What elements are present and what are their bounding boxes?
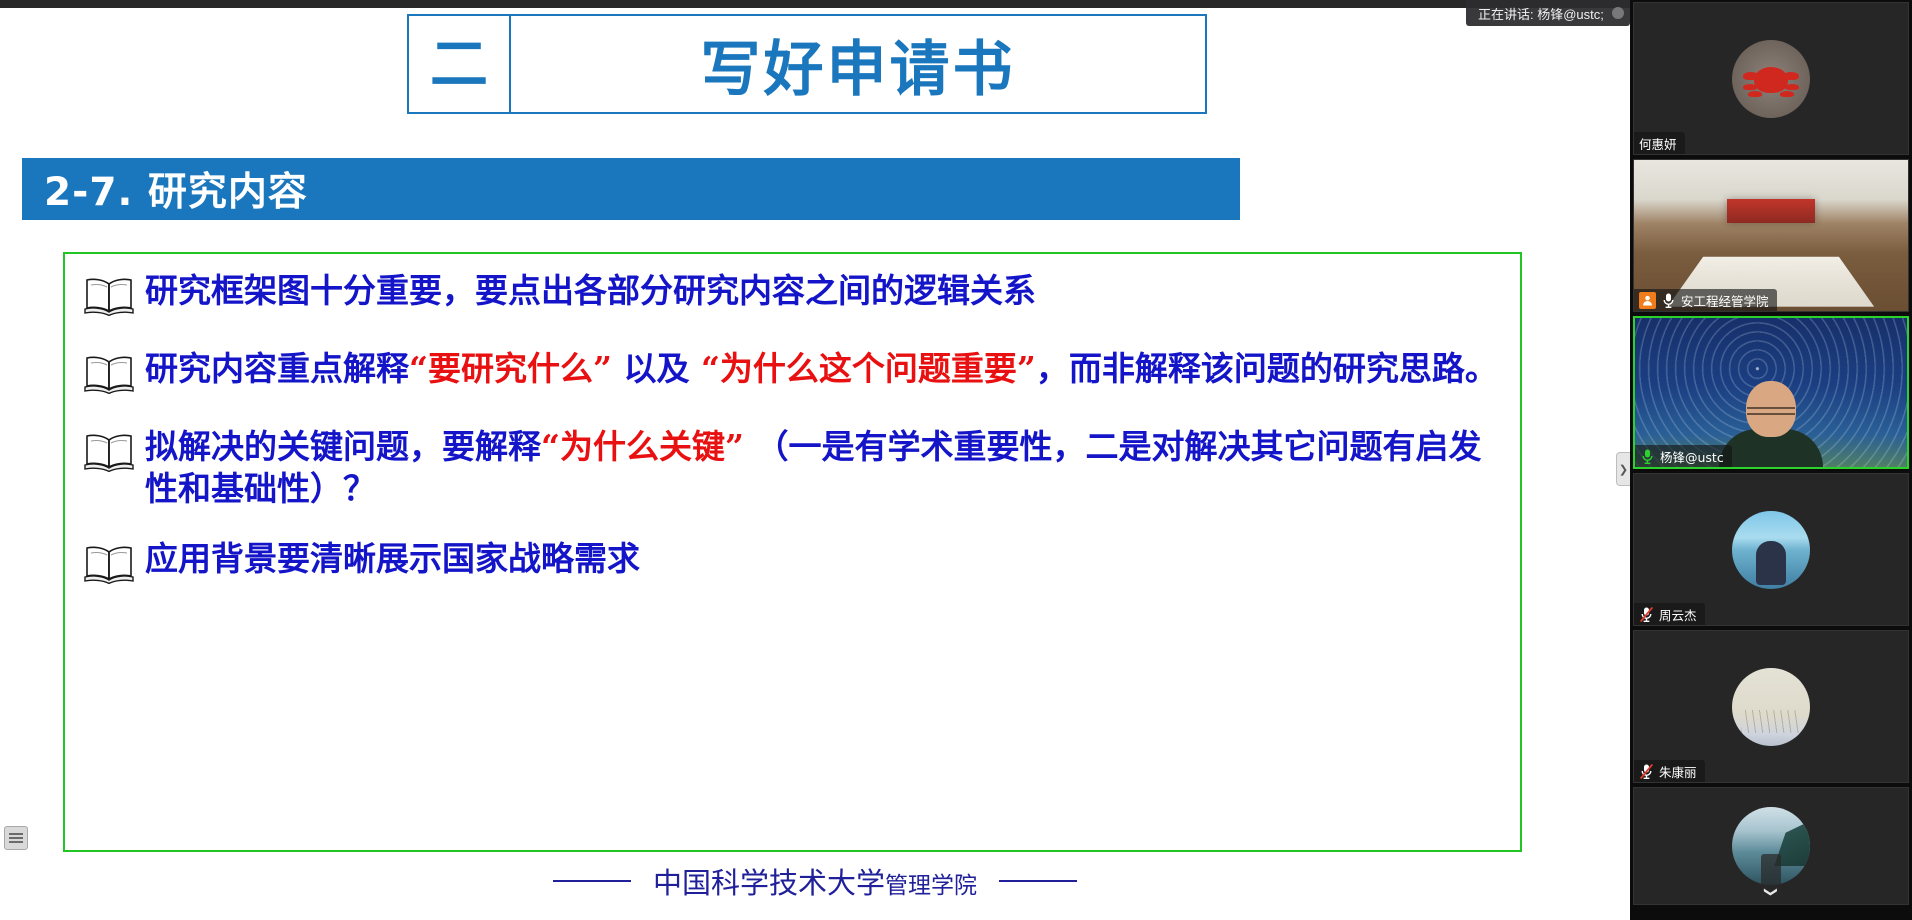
body-text: 研究框架图十分重要，要点出各部分研究内容之间的逻辑关系 xyxy=(145,271,1036,310)
zoom-meeting-window: 二 写好申请书 2-7. 研究内容 研究框架图十分重要，要点出各部分研究内容之间… xyxy=(0,0,1912,920)
slide-bullet-text: 研究内容重点解释“要研究什么” 以及 “为什么这个问题重要”，而非解释该问题的研… xyxy=(145,348,1498,390)
slide-bullet-text: 拟解决的关键问题，要解释“为什么关键” （一是有学术重要性，二是对解决其它问题有… xyxy=(145,426,1502,510)
participant-tile[interactable]: 周云杰 xyxy=(1633,473,1909,626)
slide-bullet: 研究框架图十分重要，要点出各部分研究内容之间的逻辑关系 xyxy=(83,270,1502,320)
slide-content-box: 研究框架图十分重要，要点出各部分研究内容之间的逻辑关系研究内容重点解释“要研究什… xyxy=(63,252,1522,852)
open-book-icon xyxy=(83,354,135,398)
slide-bullet-text: 研究框架图十分重要，要点出各部分研究内容之间的逻辑关系 xyxy=(145,270,1036,312)
shared-screen-stage: 二 写好申请书 2-7. 研究内容 研究框架图十分重要，要点出各部分研究内容之间… xyxy=(0,0,1630,920)
chevron-down-icon[interactable]: ❯ xyxy=(1761,854,1781,905)
body-text: 拟解决的关键问题，要解释 xyxy=(145,427,541,466)
body-text: 研究内容重点解释 xyxy=(145,349,409,388)
participant-name: 朱康丽 xyxy=(1659,762,1697,781)
thumbnail-list-icon[interactable] xyxy=(4,826,28,850)
footer-school: 管理学院 xyxy=(885,873,977,899)
chevron-right-icon[interactable]: ❯ xyxy=(1616,452,1630,486)
participant-name: 安工程经管学院 xyxy=(1681,291,1769,310)
emphasis-text: “为什么关键” xyxy=(541,427,744,466)
slide-title-block: 二 写好申请书 xyxy=(407,14,1207,114)
active-speaker-banner: 正在讲话: 杨锋@ustc; xyxy=(1466,0,1630,26)
body-text: ，而非解释该问题的研究思路。 xyxy=(1036,349,1498,388)
open-book-icon xyxy=(83,432,135,476)
participant-tile[interactable]: 何惠妍 xyxy=(1633,2,1909,155)
footer-institution: 中国科学技术大学管理学院 xyxy=(631,860,999,902)
participant-tile[interactable]: ❯ xyxy=(1633,787,1909,905)
slide-footer: 中国科学技术大学管理学院 xyxy=(0,860,1630,902)
open-book-icon xyxy=(83,276,135,320)
emphasis-text: “为什么这个问题重要” xyxy=(701,349,1036,388)
slide-section-number: 二 xyxy=(407,14,511,114)
host-person-icon xyxy=(1639,292,1656,309)
participant-tile[interactable]: 朱康丽 xyxy=(1633,630,1909,783)
emphasis-text: “要研究什么” xyxy=(409,349,612,388)
participant-name: 杨锋@ustc xyxy=(1660,447,1724,466)
active-speaker-label: 正在讲话: 杨锋@ustc; xyxy=(1478,4,1604,23)
avatar xyxy=(1732,511,1810,589)
footer-rule-left xyxy=(553,880,631,882)
presentation-slide: 二 写好申请书 2-7. 研究内容 研究框架图十分重要，要点出各部分研究内容之间… xyxy=(0,8,1630,920)
mic-active-icon xyxy=(1640,448,1655,465)
participant-tile[interactable]: 安工程经管学院 xyxy=(1633,159,1909,312)
avatar xyxy=(1732,668,1810,746)
participant-filmstrip[interactable]: 何惠妍安工程经管学院杨锋@ustc周云杰朱康丽❯ xyxy=(1630,0,1912,920)
participant-nameplate: 周云杰 xyxy=(1634,603,1705,625)
open-book-icon xyxy=(83,544,135,588)
slide-bullet: 拟解决的关键问题，要解释“为什么关键” （一是有学术重要性，二是对解决其它问题有… xyxy=(83,426,1502,510)
slide-bullet: 研究内容重点解释“要研究什么” 以及 “为什么这个问题重要”，而非解释该问题的研… xyxy=(83,348,1502,398)
participant-name: 周云杰 xyxy=(1659,605,1697,624)
slide-bullet: 应用背景要清晰展示国家战略需求 xyxy=(83,538,1502,588)
footer-rule-right xyxy=(999,880,1077,882)
participant-nameplate: 何惠妍 xyxy=(1634,132,1685,154)
participant-nameplate: 安工程经管学院 xyxy=(1634,289,1777,311)
participant-tile[interactable]: 杨锋@ustc xyxy=(1633,316,1909,469)
body-text: 应用背景要清晰展示国家战略需求 xyxy=(145,539,640,578)
section-header-bar: 2-7. 研究内容 xyxy=(22,158,1240,220)
footer-university: 中国科学技术大学 xyxy=(653,866,885,900)
participant-nameplate: 杨锋@ustc xyxy=(1635,445,1732,467)
banner-collapse-icon[interactable] xyxy=(1612,7,1624,19)
slide-bullet-text: 应用背景要清晰展示国家战略需求 xyxy=(145,538,640,580)
avatar xyxy=(1732,40,1810,118)
participant-name: 何惠妍 xyxy=(1639,134,1677,153)
section-header-label: 2-7. 研究内容 xyxy=(44,161,308,217)
body-text: 以及 xyxy=(612,349,701,388)
mic-muted-icon xyxy=(1639,606,1654,623)
speaker-figure xyxy=(1719,381,1823,467)
participant-nameplate: 朱康丽 xyxy=(1634,760,1705,782)
mic-muted-icon xyxy=(1639,763,1654,780)
mic-on-icon xyxy=(1661,292,1676,309)
page-title: 写好申请书 xyxy=(511,14,1207,114)
